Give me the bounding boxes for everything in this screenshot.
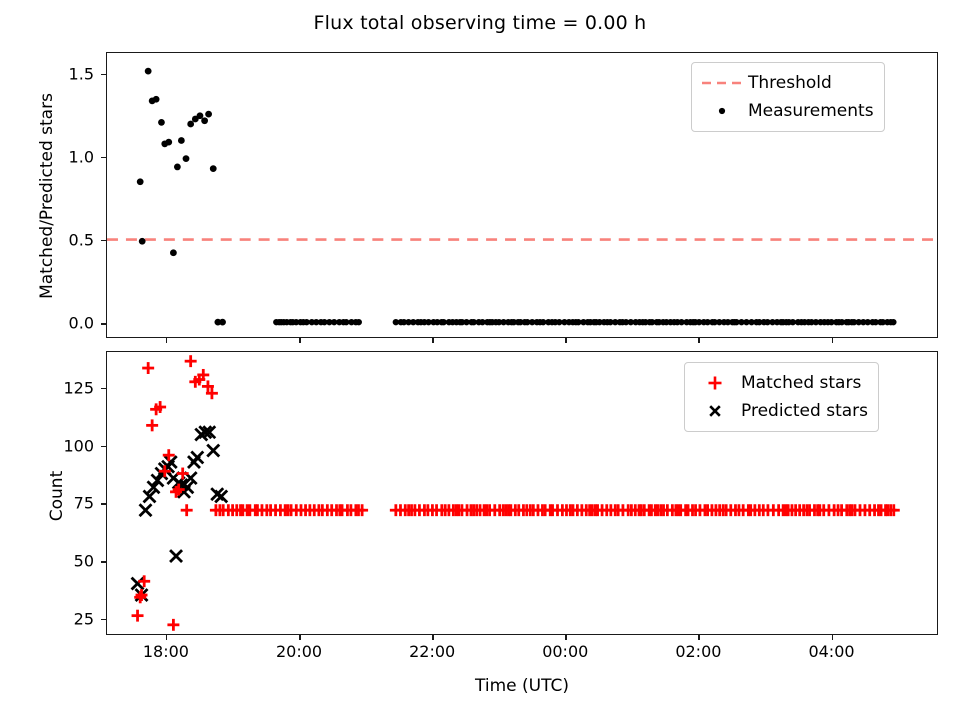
top-ytick-mark	[101, 240, 106, 242]
data-point-plus	[146, 419, 158, 431]
bottom-ytick-label: 75	[74, 494, 94, 513]
data-point-dot	[145, 68, 152, 75]
legend-label-measurements: Measurements	[744, 101, 874, 121]
data-point-plus	[142, 362, 154, 374]
xtick-label: 22:00	[409, 642, 455, 661]
top-ytick-mark	[101, 74, 106, 76]
data-point-dot	[201, 117, 208, 124]
data-point-dot	[187, 121, 194, 128]
xtick-mark-top-panel	[565, 338, 567, 343]
top-panel-legend[interactable]: Threshold Measurements	[691, 62, 885, 132]
legend-item-matched-stars: Matched stars	[693, 369, 868, 397]
bottom-ytick-mark	[101, 619, 106, 621]
data-point-dot	[139, 238, 146, 245]
data-point-cross	[132, 578, 144, 590]
xtick-label: 00:00	[542, 642, 588, 661]
figure-title: Flux total observing time = 0.00 h	[0, 12, 960, 34]
data-point-dot	[210, 165, 217, 172]
bottom-panel-yaxis-label: Count	[47, 354, 67, 638]
bottom-ytick-label: 50	[74, 552, 94, 571]
bottom-ytick-mark	[101, 446, 106, 448]
data-point-dot	[356, 319, 362, 325]
top-ytick-label: 1.0	[69, 147, 94, 166]
bottom-ytick-label: 125	[63, 378, 94, 397]
data-point-dot	[137, 178, 144, 185]
legend-item-threshold: Threshold	[700, 69, 874, 97]
data-point-cross	[140, 504, 152, 516]
bottom-ytick-mark	[101, 388, 106, 390]
data-point-plus	[185, 355, 197, 367]
data-point-cross	[191, 452, 203, 464]
data-point-dot	[174, 164, 181, 171]
xtick-mark-top-panel	[299, 338, 301, 343]
top-ytick-label: 1.5	[69, 64, 94, 83]
data-point-dot	[158, 119, 165, 126]
data-point-cross	[207, 445, 219, 457]
bottom-ytick-mark	[101, 503, 106, 505]
data-point-dot	[170, 249, 177, 256]
xtick-mark-top-panel	[698, 338, 700, 343]
xtick-label: 02:00	[675, 642, 721, 661]
data-point-plus	[181, 504, 193, 516]
xaxis-label: Time (UTC)	[106, 676, 938, 696]
xtick-mark-bottom-panel	[299, 635, 301, 640]
measurement-dot-icon	[700, 100, 744, 122]
data-point-dot	[197, 112, 204, 119]
xtick-mark-bottom-panel	[166, 635, 168, 640]
data-point-dot	[890, 319, 896, 325]
data-point-cross	[215, 490, 227, 502]
legend-item-measurements: Measurements	[700, 97, 874, 125]
data-point-dot	[153, 96, 160, 103]
top-ytick-mark	[101, 157, 106, 159]
legend-label-matched-stars: Matched stars	[737, 373, 861, 393]
figure-canvas: Flux total observing time = 0.00 h 0.00.…	[0, 0, 960, 720]
data-point-plus	[177, 468, 189, 480]
bottom-panel-legend[interactable]: Matched stars Predicted stars	[684, 362, 879, 432]
top-panel-yaxis-label: Matched/Predicted stars	[37, 53, 57, 339]
data-point-dot	[183, 155, 190, 162]
threshold-dashed-line-icon	[700, 72, 744, 94]
xtick-label: 20:00	[276, 642, 322, 661]
xtick-mark-bottom-panel	[565, 635, 567, 640]
cross-marker-icon	[693, 400, 737, 422]
xtick-mark-bottom-panel	[432, 635, 434, 640]
legend-label-predicted-stars: Predicted stars	[737, 401, 868, 421]
data-point-plus	[167, 619, 179, 631]
bottom-ytick-mark	[101, 561, 106, 563]
top-ytick-label: 0.0	[69, 314, 94, 333]
data-point-plus	[132, 610, 144, 622]
legend-label-threshold: Threshold	[744, 73, 832, 93]
data-point-dot	[165, 139, 172, 146]
xtick-mark-top-panel	[432, 338, 434, 343]
bottom-ytick-label: 100	[63, 436, 94, 455]
plus-marker-icon	[693, 372, 737, 394]
xtick-mark-top-panel	[832, 338, 834, 343]
xtick-label: 18:00	[143, 642, 189, 661]
data-point-cross	[165, 456, 177, 468]
data-point-dot	[205, 111, 212, 118]
legend-item-predicted-stars: Predicted stars	[693, 397, 868, 425]
data-point-dot	[219, 319, 226, 326]
top-ytick-label: 0.5	[69, 230, 94, 249]
xtick-mark-bottom-panel	[698, 635, 700, 640]
bottom-ytick-label: 25	[74, 609, 94, 628]
xtick-mark-bottom-panel	[832, 635, 834, 640]
data-point-cross	[170, 550, 182, 562]
data-point-dot	[178, 137, 185, 144]
xtick-mark-top-panel	[166, 338, 168, 343]
top-ytick-mark	[101, 323, 106, 325]
xtick-label: 04:00	[808, 642, 854, 661]
